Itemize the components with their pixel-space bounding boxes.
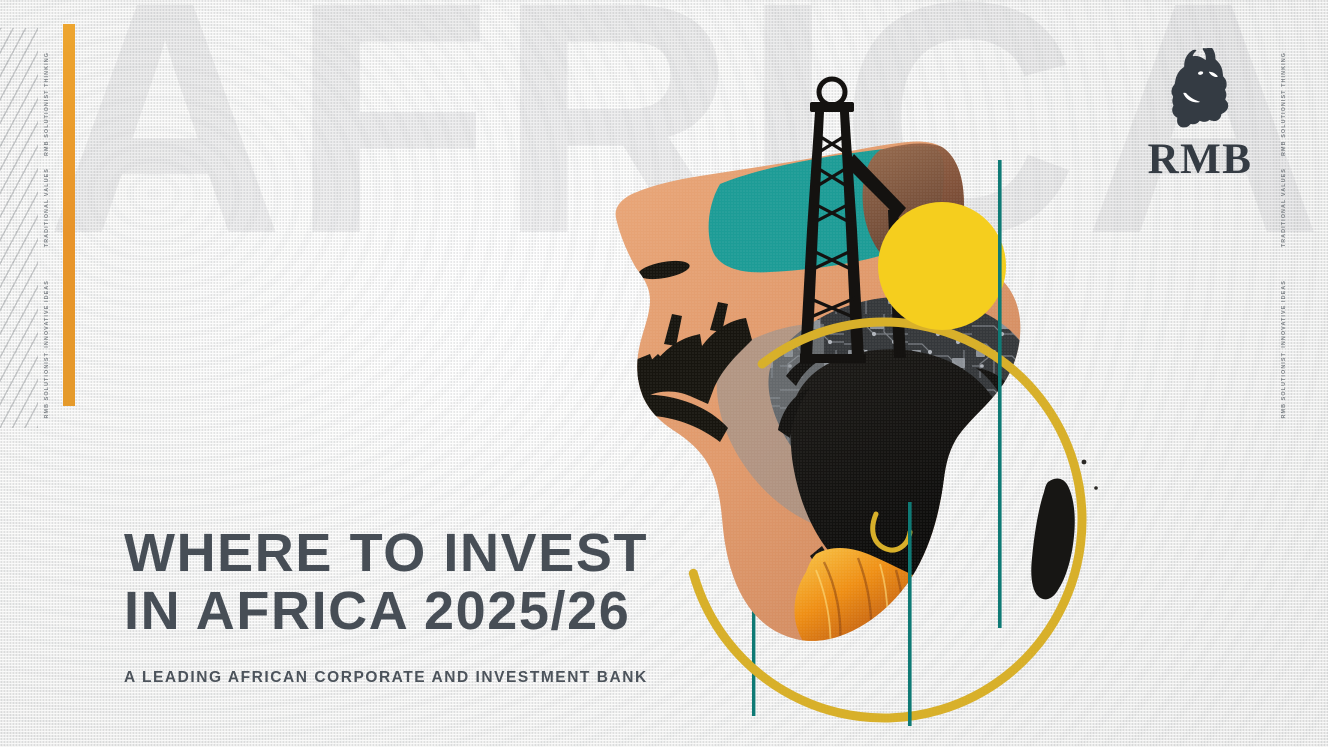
teal-vertical-line-2 [908,502,912,726]
vertical-rail-text-left-1: RMB SOLUTIONIST THINKING [44,52,50,156]
island-speck-2 [1094,486,1098,490]
page-title: WHERE TO INVEST IN AFRICA 2025/26 [124,525,844,641]
vertical-rail-text-left-2: TRADITIONAL VALUES [44,168,50,247]
yellow-disc [878,202,1006,330]
title-block: WHERE TO INVEST IN AFRICA 2025/26 A LEAD… [124,525,844,687]
lion-head-icon [1162,48,1238,128]
rmb-wordmark: RMB [1132,138,1268,181]
vertical-rail-text-left-4: RMB SOLUTIONIST [44,352,50,419]
teal-vertical-line-3 [998,160,1002,628]
page-title-line-2: IN AFRICA 2025/26 [124,583,844,641]
page-subtitle: A LEADING AFRICAN CORPORATE AND INVESTME… [124,669,844,687]
diagonal-hatch-decoration [0,28,38,428]
cover-page: AFRICA RMB SOLUTIONIST THINKING TRADITIO… [0,0,1328,747]
page-title-line-1: WHERE TO INVEST [124,525,844,583]
vertical-rail-text-right-1: RMB SOLUTIONIST THINKING [1281,52,1287,156]
rmb-logo: RMB [1132,48,1268,181]
vertical-rail-text-left-3: INNOVATIVE IDEAS [44,280,50,348]
orange-accent-bar [63,24,75,406]
vertical-rail-text-right-2: TRADITIONAL VALUES [1281,168,1287,247]
vertical-rail-text-right-3: INNOVATIVE IDEAS [1281,280,1287,348]
island-speck-1 [1082,460,1087,465]
vertical-rail-text-right-4: RMB SOLUTIONIST [1281,352,1287,419]
